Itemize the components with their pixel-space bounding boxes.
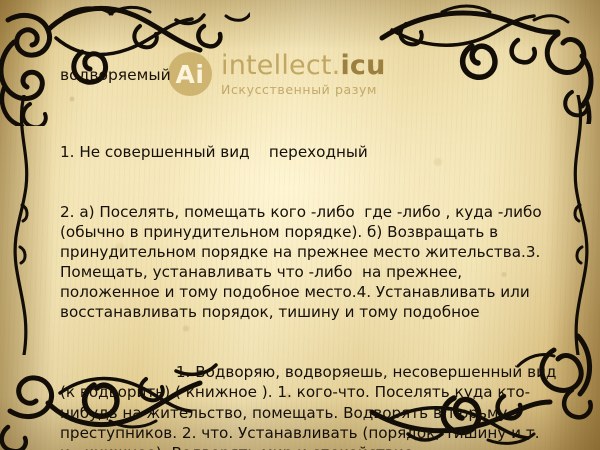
dictionary-entry-page: Ai intellect.icu Искусственный разум вод…: [0, 0, 600, 450]
entry-content: водворяемый 1. Не совершенный вид перехо…: [60, 66, 560, 450]
page-title: водворяемый: [60, 66, 560, 85]
definition-paragraph: 1. Не совершенный вид переходный: [60, 142, 560, 162]
border-rule-left: [10, 95, 36, 359]
entry-definitions: 1. Не совершенный вид переходный 2. а) П…: [60, 102, 560, 450]
border-rule-right: [566, 95, 592, 359]
definition-paragraph: 1. Водворяю, водворяешь, несовершенный в…: [60, 362, 560, 450]
definition-paragraph: 2. а) Поселять, помещать кого -либо где …: [60, 202, 560, 322]
